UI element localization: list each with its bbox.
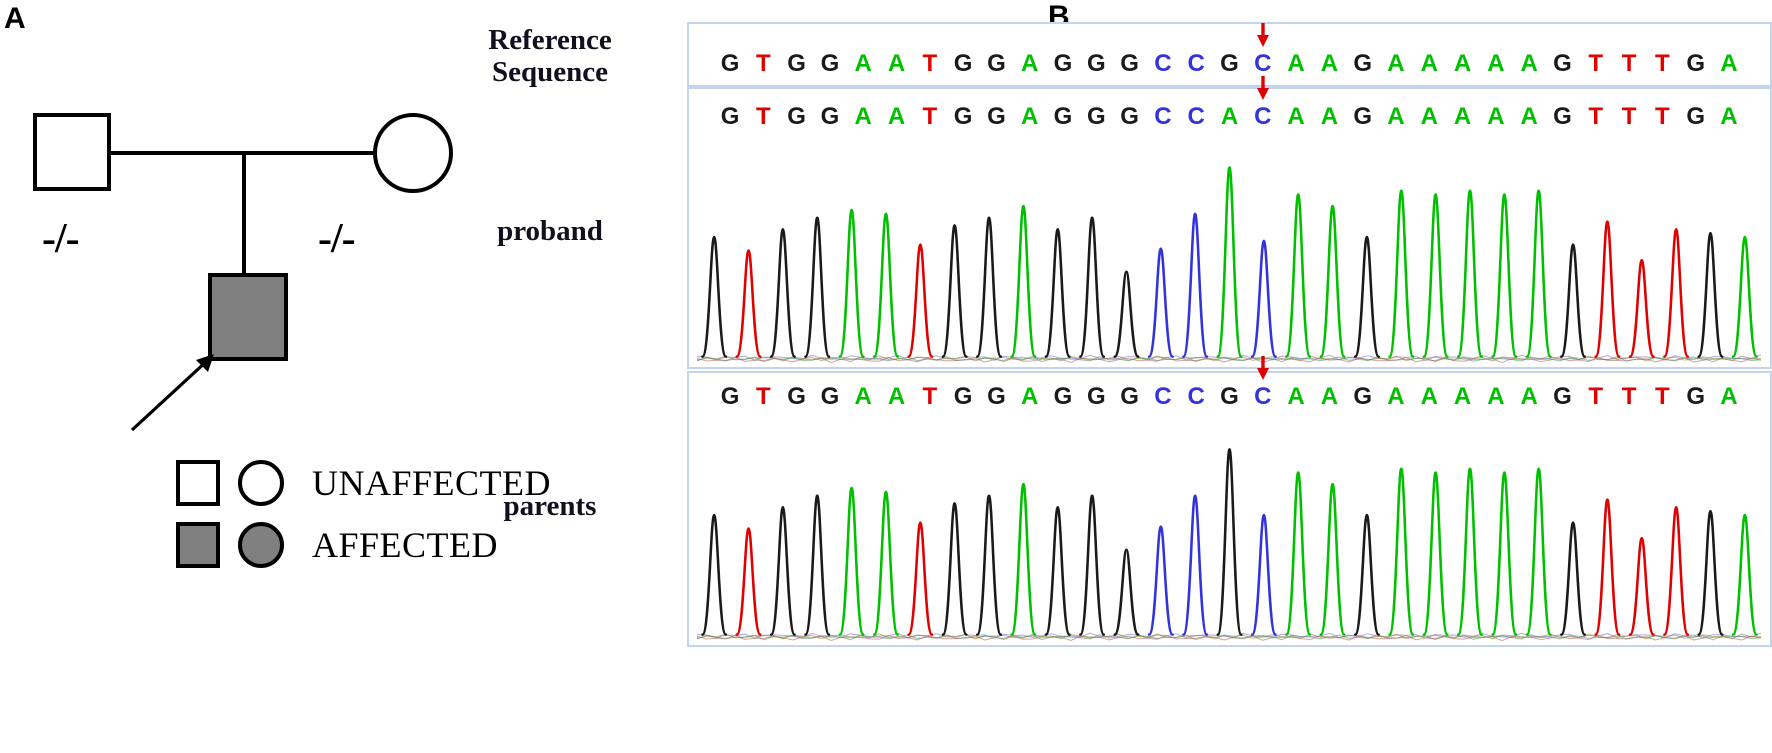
base-G: G (1213, 385, 1246, 409)
base-C: C (1146, 105, 1179, 129)
trace-row-proband: GTGGAATGGAGGGCCACAAGAAAAAGTTTGA (687, 87, 1772, 369)
base-A: A (1513, 385, 1546, 409)
peak-T (1630, 538, 1653, 634)
peak-A (840, 488, 863, 635)
base-A: A (1712, 52, 1745, 76)
peak-A (1527, 469, 1550, 635)
row-label-proband: proband (420, 215, 680, 247)
base-G: G (1046, 385, 1079, 409)
legend-unaffected-square (176, 460, 220, 506)
peak-A (1390, 191, 1413, 357)
figure-root: A -/- -/- UNAFFECTED AF (0, 0, 1772, 753)
peak-A (1321, 484, 1344, 635)
base-C: C (1246, 105, 1279, 129)
base-T: T (747, 105, 780, 129)
base-C: C (1180, 385, 1213, 409)
peak-A (1390, 469, 1413, 635)
peak-G (1699, 511, 1722, 634)
peak-G (1115, 550, 1138, 635)
base-A: A (1313, 105, 1346, 129)
base-G: G (780, 52, 813, 76)
base-T: T (1646, 52, 1679, 76)
base-T: T (913, 385, 946, 409)
base-G: G (813, 52, 846, 76)
peak-G (703, 515, 726, 635)
peak-A (1733, 237, 1756, 357)
peak-G (1046, 229, 1069, 356)
pedigree-father-square (33, 113, 111, 191)
base-G: G (1679, 105, 1712, 129)
peak-G (1115, 272, 1138, 357)
base-T: T (1646, 385, 1679, 409)
panel-a-letter: A (4, 4, 26, 34)
peak-A (1733, 515, 1756, 635)
base-A: A (1513, 52, 1546, 76)
base-A: A (1279, 385, 1312, 409)
peak-G (771, 507, 794, 634)
base-G: G (1046, 52, 1079, 76)
mutation-arrow-icon (1256, 22, 1270, 48)
peak-G (1080, 496, 1103, 635)
base-T: T (1646, 105, 1679, 129)
peak-C (1149, 249, 1172, 357)
base-A: A (880, 52, 913, 76)
peak-G (1218, 449, 1241, 634)
peak-G (703, 237, 726, 357)
base-T: T (1612, 105, 1645, 129)
base-A: A (1712, 105, 1745, 129)
base-A: A (1013, 52, 1046, 76)
base-G: G (780, 385, 813, 409)
peak-G (806, 496, 829, 635)
peak-A (874, 214, 897, 357)
peak-T (1596, 222, 1619, 357)
peak-T (1630, 260, 1653, 356)
base-G: G (813, 105, 846, 129)
row-label-reference-line1: Reference (420, 24, 680, 56)
base-A: A (880, 105, 913, 129)
pedigree-mother-genotype: -/- (318, 218, 355, 260)
base-A: A (1413, 105, 1446, 129)
base-C: C (1246, 52, 1279, 76)
peak-G (1561, 245, 1584, 357)
base-C: C (1146, 385, 1179, 409)
pedigree-mother-circle (373, 113, 453, 193)
row-label-reference-line2: Sequence (420, 56, 680, 88)
base-C: C (1180, 105, 1213, 129)
base-G: G (1080, 385, 1113, 409)
base-A: A (1446, 52, 1479, 76)
base-G: G (1346, 52, 1379, 76)
base-A: A (1479, 385, 1512, 409)
base-A: A (1213, 105, 1246, 129)
legend-row-affected: AFFECTED (0, 514, 520, 576)
base-T: T (1612, 52, 1645, 76)
base-strip-proband: GTGGAATGGAGGGCCACAAGAAAAAGTTTGA (689, 105, 1770, 129)
base-A: A (1379, 105, 1412, 129)
peak-C (1149, 527, 1172, 635)
base-A: A (847, 52, 880, 76)
base-G: G (1113, 52, 1146, 76)
base-G: G (1346, 105, 1379, 129)
peak-G (977, 218, 1000, 357)
base-A: A (880, 385, 913, 409)
peak-A (1321, 206, 1344, 357)
base-A: A (1479, 105, 1512, 129)
pedigree-proband-square (208, 273, 288, 361)
pedigree-father-genotype: -/- (42, 218, 79, 260)
peak-T (737, 251, 760, 357)
peak-T (909, 523, 932, 635)
base-G: G (1113, 385, 1146, 409)
base-G: G (1080, 105, 1113, 129)
base-A: A (1013, 105, 1046, 129)
base-A: A (1013, 385, 1046, 409)
base-G: G (1080, 52, 1113, 76)
peak-G (1355, 237, 1378, 357)
base-G: G (713, 52, 746, 76)
base-A: A (847, 105, 880, 129)
peak-G (943, 503, 966, 634)
base-A: A (1479, 52, 1512, 76)
base-A: A (1279, 105, 1312, 129)
peak-A (1458, 469, 1481, 635)
peak-T (1596, 500, 1619, 635)
base-strip-reference: GTGGAATGGAGGGCCGCAAGAAAAAGTTTGA (689, 52, 1770, 76)
peak-A (1286, 473, 1309, 635)
peak-G (771, 229, 794, 356)
legend-unaffected-circle (238, 460, 284, 506)
peak-G (1561, 523, 1584, 635)
peak-A (1458, 191, 1481, 357)
panel-b-chromatograms: B Reference Sequence proband parents GTG… (520, 0, 1772, 753)
peak-T (909, 245, 932, 357)
peak-A (1012, 206, 1035, 357)
base-G: G (1546, 385, 1579, 409)
mutation-arrow-icon (1256, 75, 1270, 101)
peak-T (1664, 507, 1687, 634)
base-G: G (980, 385, 1013, 409)
base-T: T (1579, 52, 1612, 76)
peak-A (1286, 195, 1309, 357)
base-G: G (946, 385, 979, 409)
peak-A (1424, 195, 1447, 357)
peak-C (1252, 515, 1275, 635)
base-G: G (980, 52, 1013, 76)
peak-T (1664, 229, 1687, 356)
proband-arrow-icon (128, 352, 220, 434)
legend-affected-label: AFFECTED (312, 522, 498, 568)
legend-affected-circle (238, 522, 284, 568)
base-C: C (1246, 385, 1279, 409)
trace-row-parents: GTGGAATGGAGGGCCGCAAGAAAAAGTTTGA (687, 371, 1772, 647)
base-G: G (946, 105, 979, 129)
base-strip-parents: GTGGAATGGAGGGCCGCAAGAAAAAGTTTGA (689, 385, 1770, 409)
base-G: G (1213, 52, 1246, 76)
peak-C (1252, 241, 1275, 357)
base-G: G (1346, 385, 1379, 409)
chromatogram-parents (697, 429, 1762, 641)
legend-affected-square (176, 522, 220, 568)
base-A: A (1712, 385, 1745, 409)
base-A: A (1513, 105, 1546, 129)
base-G: G (713, 385, 746, 409)
pedigree-descent-line (242, 153, 246, 275)
base-A: A (1279, 52, 1312, 76)
peak-G (1699, 233, 1722, 356)
chromatogram-proband (697, 151, 1762, 363)
peak-A (1218, 168, 1241, 357)
base-T: T (913, 105, 946, 129)
peak-C (1183, 214, 1206, 357)
base-G: G (780, 105, 813, 129)
base-T: T (1579, 105, 1612, 129)
base-T: T (747, 385, 780, 409)
peak-C (1183, 496, 1206, 635)
peak-A (874, 492, 897, 635)
base-A: A (1413, 385, 1446, 409)
row-label-reference: Reference Sequence (420, 24, 680, 89)
base-A: A (847, 385, 880, 409)
base-A: A (1313, 52, 1346, 76)
base-G: G (1046, 105, 1079, 129)
peak-A (1493, 473, 1516, 635)
base-T: T (1612, 385, 1645, 409)
base-G: G (1546, 52, 1579, 76)
peak-G (943, 225, 966, 356)
base-G: G (946, 52, 979, 76)
panel-a-pedigree: A -/- -/- UNAFFECTED AF (0, 0, 520, 753)
peak-A (1527, 191, 1550, 357)
trace-row-reference: GTGGAATGGAGGGCCGCAAGAAAAAGTTTGA (687, 22, 1772, 87)
base-A: A (1379, 385, 1412, 409)
base-G: G (1679, 385, 1712, 409)
base-T: T (747, 52, 780, 76)
base-A: A (1313, 385, 1346, 409)
peak-G (1080, 218, 1103, 357)
peak-G (1355, 515, 1378, 635)
base-C: C (1180, 52, 1213, 76)
base-G: G (980, 105, 1013, 129)
base-C: C (1146, 52, 1179, 76)
base-G: G (1113, 105, 1146, 129)
peak-A (1424, 473, 1447, 635)
base-A: A (1446, 105, 1479, 129)
peak-G (806, 218, 829, 357)
mutation-arrow-icon (1256, 355, 1270, 381)
peak-T (737, 529, 760, 635)
peak-A (1493, 195, 1516, 357)
base-A: A (1446, 385, 1479, 409)
peak-A (1012, 484, 1035, 635)
base-G: G (1546, 105, 1579, 129)
base-A: A (1413, 52, 1446, 76)
peak-G (1046, 507, 1069, 634)
row-label-parents: parents (420, 490, 680, 522)
peak-G (977, 496, 1000, 635)
base-G: G (713, 105, 746, 129)
base-G: G (813, 385, 846, 409)
base-A: A (1379, 52, 1412, 76)
base-T: T (913, 52, 946, 76)
peak-A (840, 210, 863, 357)
base-T: T (1579, 385, 1612, 409)
base-G: G (1679, 52, 1712, 76)
